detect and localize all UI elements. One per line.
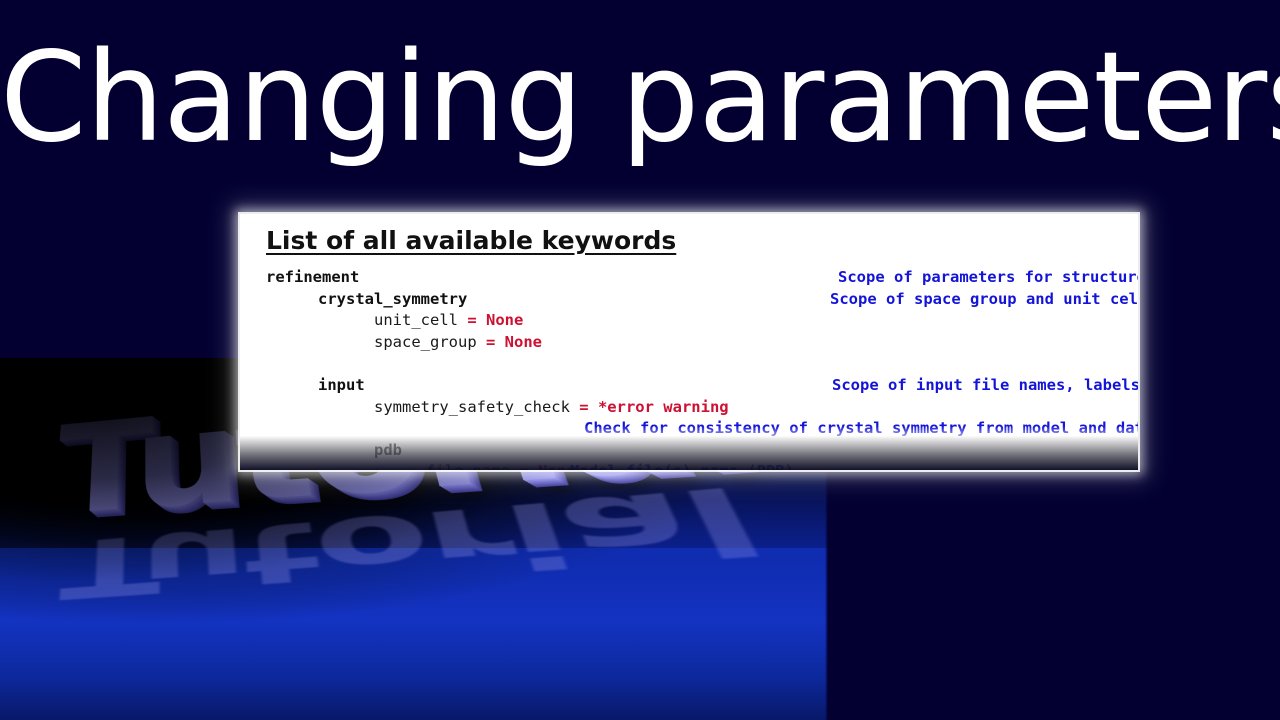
keyword-equals: = bbox=[570, 398, 598, 416]
keyword-name: crystal_symmetry bbox=[318, 290, 467, 308]
keyword-description: Check for consistency of crystal symmetr… bbox=[584, 419, 1138, 437]
keyword-description: Model file(s) name (PDB) bbox=[570, 462, 794, 470]
keyword-row: file_name = NoneModel file(s) name (PDB) bbox=[240, 462, 1138, 470]
keyword-name: pdb bbox=[374, 441, 402, 459]
keyword-description: Scope of space group and unit cell param… bbox=[830, 290, 1138, 308]
keyword-entry: symmetry_safety_check = *error warning bbox=[374, 398, 729, 416]
keyword-row: space_group = None bbox=[240, 333, 1138, 355]
keyword-entry: input bbox=[318, 376, 365, 394]
keyword-row: unit_cell = None bbox=[240, 311, 1138, 333]
keyword-equals: = bbox=[458, 311, 486, 329]
keyword-row: pdb bbox=[240, 441, 1138, 463]
keyword-row: crystal_symmetryScope of space group and… bbox=[240, 290, 1138, 312]
keyword-equals: = bbox=[477, 333, 505, 351]
slide-canvas: Changing parameters Tutorial Tutorial Li… bbox=[0, 0, 1280, 720]
keyword-value: None bbox=[486, 311, 523, 329]
keyword-description: Scope of input file names, labels, proce… bbox=[832, 376, 1138, 394]
keyword-entry: space_group = None bbox=[374, 333, 542, 351]
keyword-entry: crystal_symmetry bbox=[318, 290, 467, 308]
keyword-row bbox=[240, 354, 1138, 376]
keyword-list-panel: List of all available keywords refinemen… bbox=[240, 214, 1138, 470]
keyword-name: space_group bbox=[374, 333, 477, 351]
keyword-row: symmetry_safety_check = *error warning bbox=[240, 398, 1138, 420]
keyword-row: inputScope of input file names, labels, … bbox=[240, 376, 1138, 398]
keyword-name: refinement bbox=[266, 268, 359, 286]
keyword-row: refinementScope of parameters for struct… bbox=[240, 268, 1138, 290]
keyword-value: None bbox=[505, 333, 542, 351]
panel-heading: List of all available keywords bbox=[266, 226, 676, 255]
keyword-name: unit_cell bbox=[374, 311, 458, 329]
keyword-entry: pdb bbox=[374, 441, 402, 459]
page-title: Changing parameters bbox=[0, 36, 1280, 160]
keyword-lines: refinementScope of parameters for struct… bbox=[240, 268, 1138, 470]
keyword-value: *error warning bbox=[598, 398, 729, 416]
keyword-description: Scope of parameters for structure refine… bbox=[838, 268, 1138, 286]
keyword-entry: unit_cell = None bbox=[374, 311, 523, 329]
keyword-name: file_name bbox=[426, 462, 510, 470]
keyword-name: input bbox=[318, 376, 365, 394]
keyword-entry: file_name = None bbox=[426, 462, 575, 470]
keyword-entry: refinement bbox=[266, 268, 359, 286]
keyword-row: Check for consistency of crystal symmetr… bbox=[240, 419, 1138, 441]
keyword-equals: = bbox=[510, 462, 538, 470]
keyword-name: symmetry_safety_check bbox=[374, 398, 570, 416]
